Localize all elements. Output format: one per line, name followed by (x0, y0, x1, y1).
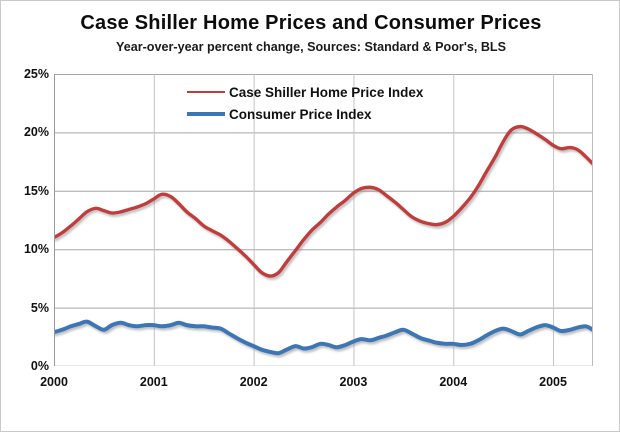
chart-title: Case Shiller Home Prices and Consumer Pr… (1, 11, 620, 35)
legend-swatch-red-icon (187, 91, 225, 93)
series-line-case-shiller (54, 127, 593, 277)
series-layer (54, 127, 593, 354)
y-tick-label: 10% (5, 242, 49, 256)
chart-subtitle: Year-over-year percent change, Sources: … (1, 38, 620, 56)
chart-container: Case Shiller Home Prices and Consumer Pr… (0, 0, 620, 432)
legend-item-consumer-price: Consumer Price Index (187, 103, 423, 125)
y-tick-label: 5% (5, 301, 49, 315)
chart-legend: Case Shiller Home Price Index Consumer P… (187, 81, 423, 125)
legend-label-consumer-price: Consumer Price Index (229, 107, 372, 122)
legend-label-case-shiller: Case Shiller Home Price Index (229, 85, 423, 100)
x-tick-label: 2001 (124, 375, 184, 389)
legend-swatch-blue-icon (187, 112, 225, 116)
series-line-consumer-price (54, 322, 593, 354)
title-block: Case Shiller Home Prices and Consumer Pr… (1, 11, 620, 56)
x-tick-label: 2002 (224, 375, 284, 389)
x-tick-label: 2005 (523, 375, 583, 389)
x-tick-label: 2003 (323, 375, 383, 389)
y-axis: 0%5%10%15%20%25% (1, 1, 49, 432)
x-tick-label: 2004 (423, 375, 483, 389)
legend-item-case-shiller: Case Shiller Home Price Index (187, 81, 423, 103)
y-tick-label: 15% (5, 184, 49, 198)
x-tick-label: 2000 (24, 375, 84, 389)
y-tick-label: 20% (5, 125, 49, 139)
y-tick-label: 25% (5, 67, 49, 81)
y-tick-label: 0% (5, 359, 49, 373)
